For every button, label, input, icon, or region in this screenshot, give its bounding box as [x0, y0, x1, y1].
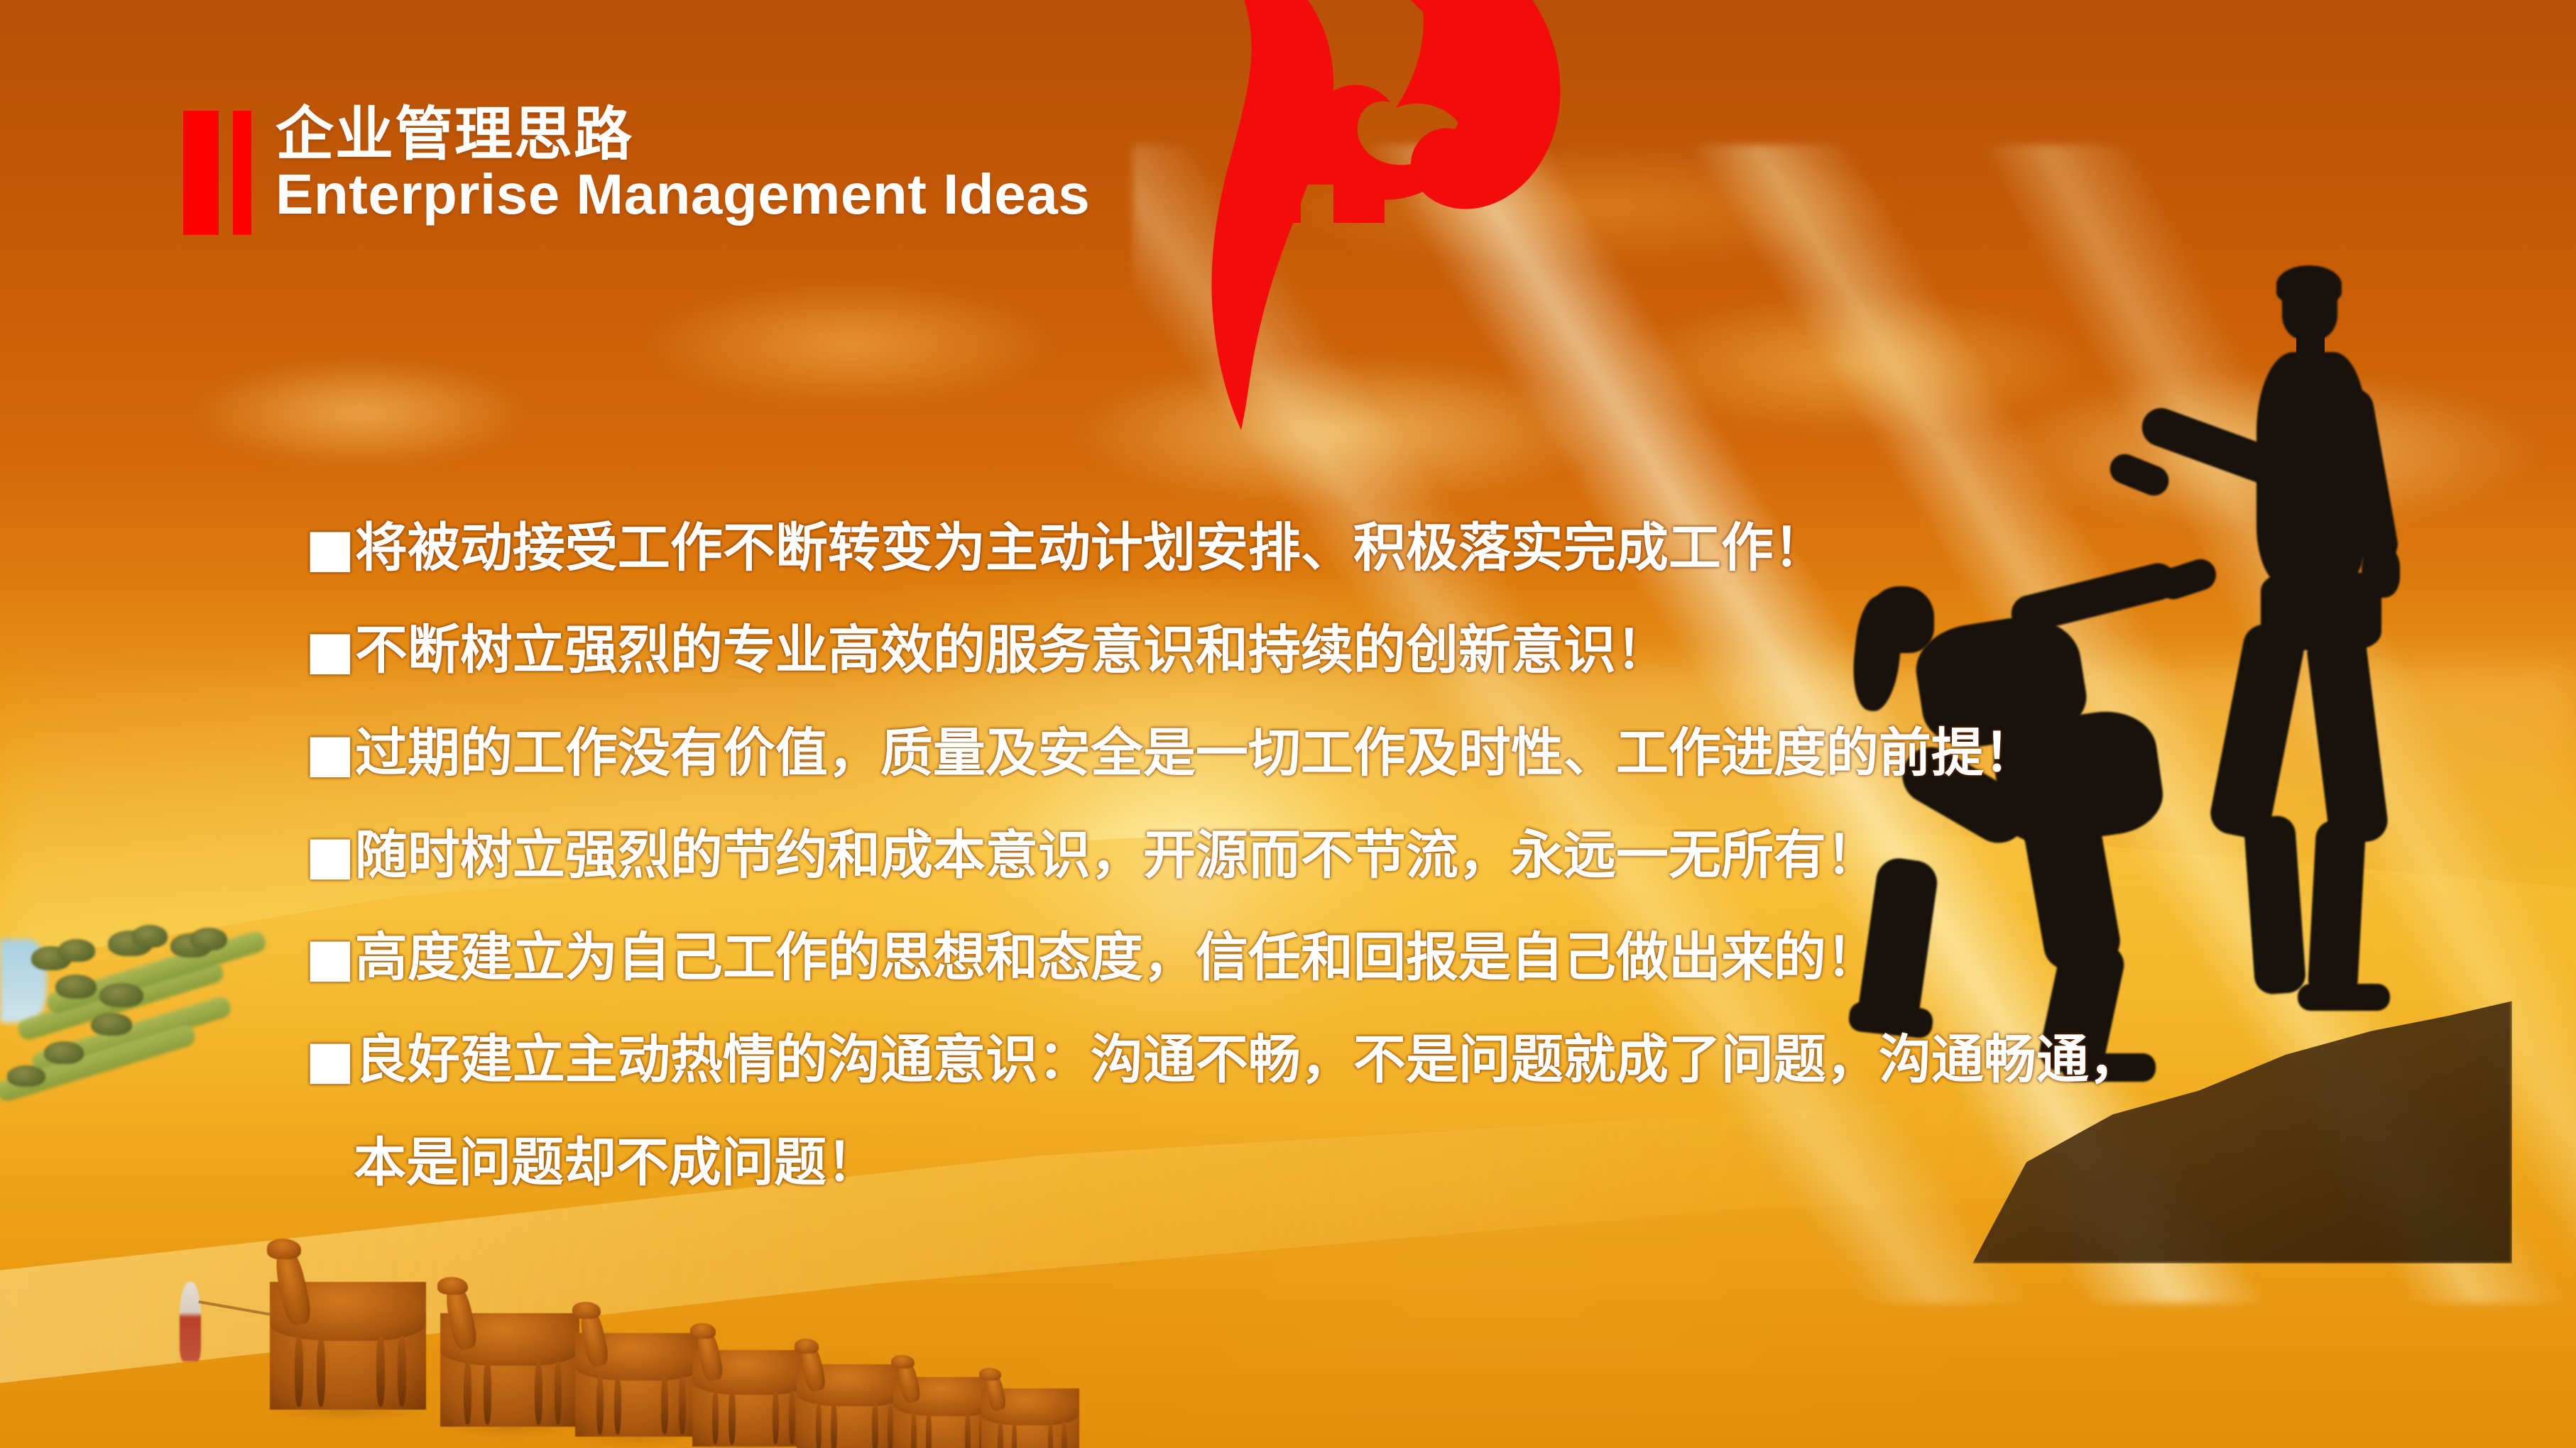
bullet-item-4: ■随时树立强烈的节约和成本意识，开源而不节流，永远一无所有！	[305, 804, 2499, 906]
bullet-text-2: 不断树立强烈的专业高效的服务意识和持续的创新意识！	[355, 620, 1669, 681]
bullet-list: ■将被动接受工作不断转变为主动计划安排、积极落实完成工作！ ■不断树立强烈的专业…	[305, 497, 2499, 1214]
bullet-text-3: 过期的工作没有价值，质量及安全是一切工作及时性、工作进度的前提！	[355, 723, 2036, 784]
bullet-text-6: 良好建立主动热情的沟通意识：沟通不畅，不是问题就成了问题，沟通畅通，	[355, 1029, 2141, 1090]
accent-bars	[183, 111, 251, 235]
title-block: 企业管理思路 Enterprise Management Ideas	[275, 105, 1090, 224]
slide-canvas: 企业管理思路 Enterprise Management Ideas ■将被动接…	[0, 0, 2576, 1448]
bullet-marker-6: ■	[305, 1029, 355, 1090]
bullet-item-2: ■不断树立强烈的专业高效的服务意识和持续的创新意识！	[305, 599, 2499, 701]
bullet-item-6: ■良好建立主动热情的沟通意识：沟通不畅，不是问题就成了问题，沟通畅通，	[305, 1009, 2499, 1111]
bullet-marker-4: ■	[305, 825, 355, 886]
page-title-en: Enterprise Management Ideas	[275, 165, 1090, 225]
page-title-cn: 企业管理思路	[275, 105, 1090, 165]
bullet-text-6-cont: 本是问题却不成问题！	[354, 1132, 879, 1193]
bullet-item-5: ■高度建立为自己工作的思想和态度，信任和回报是自己做出来的！	[305, 906, 2499, 1009]
bullet-marker-3: ■	[305, 723, 355, 784]
bullet-text-5: 高度建立为自己工作的思想和态度，信任和回报是自己做出来的！	[355, 927, 1879, 988]
bullet-marker-5: ■	[305, 927, 355, 988]
bullet-text-4: 随时树立强烈的节约和成本意识，开源而不节流，永远一无所有！	[355, 825, 1879, 886]
bullet-marker-2: ■	[305, 620, 355, 681]
bullet-item-3: ■过期的工作没有价值，质量及安全是一切工作及时性、工作进度的前提！	[305, 702, 2499, 804]
bullet-item-6-continuation: 本是问题却不成问题！	[305, 1112, 2499, 1214]
bullet-text-1: 将被动接受工作不断转变为主动计划安排、积极落实完成工作！	[355, 517, 1826, 578]
bullet-item-1: ■将被动接受工作不断转变为主动计划安排、积极落实完成工作！	[305, 497, 2499, 599]
slide-header: 企业管理思路 Enterprise Management Ideas	[183, 105, 1090, 235]
bullet-marker-1: ■	[305, 517, 355, 578]
accent-bar-wide	[183, 111, 219, 235]
accent-bar-thin	[233, 111, 251, 235]
